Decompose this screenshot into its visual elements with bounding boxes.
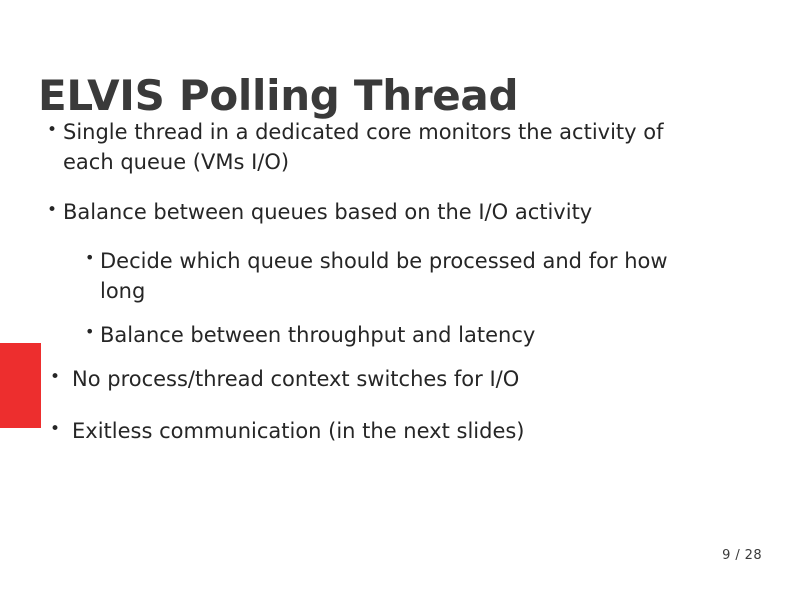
list-item: • No process/thread context switches for… <box>0 365 800 395</box>
bullet-point-icon: • <box>47 118 63 142</box>
list-item-label: No process/thread context switches for I… <box>72 365 519 395</box>
list-item-label: Single thread in a dedicated core monito… <box>63 118 705 178</box>
bullet-point-icon: • <box>50 417 72 441</box>
list-item-label: Balance between queues based on the I/O … <box>63 198 592 228</box>
bullet-point-icon: • <box>85 247 100 270</box>
page-title: ELVIS Polling Thread <box>38 72 518 119</box>
sub-list-item-label: Decide which queue should be processed a… <box>100 247 715 307</box>
sub-list-item: • Decide which queue should be processed… <box>0 247 800 307</box>
page-number-indicator: 9 / 28 <box>722 548 762 563</box>
bullet-list: • Single thread in a dedicated core moni… <box>0 118 800 469</box>
presentation-slide: ELVIS Polling Thread • Single thread in … <box>0 0 800 600</box>
bullet-point-icon: • <box>85 321 100 344</box>
bullet-point-icon: • <box>50 365 72 389</box>
list-item: • Exitless communication (in the next sl… <box>0 417 800 447</box>
sub-list-item-label: Balance between throughput and latency <box>100 321 535 351</box>
list-item: • Balance between queues based on the I/… <box>0 198 800 228</box>
list-item-label: Exitless communication (in the next slid… <box>72 417 525 447</box>
bullet-point-icon: • <box>47 198 63 222</box>
sub-list-item: • Balance between throughput and latency <box>0 321 800 351</box>
list-item: • Single thread in a dedicated core moni… <box>0 118 800 178</box>
